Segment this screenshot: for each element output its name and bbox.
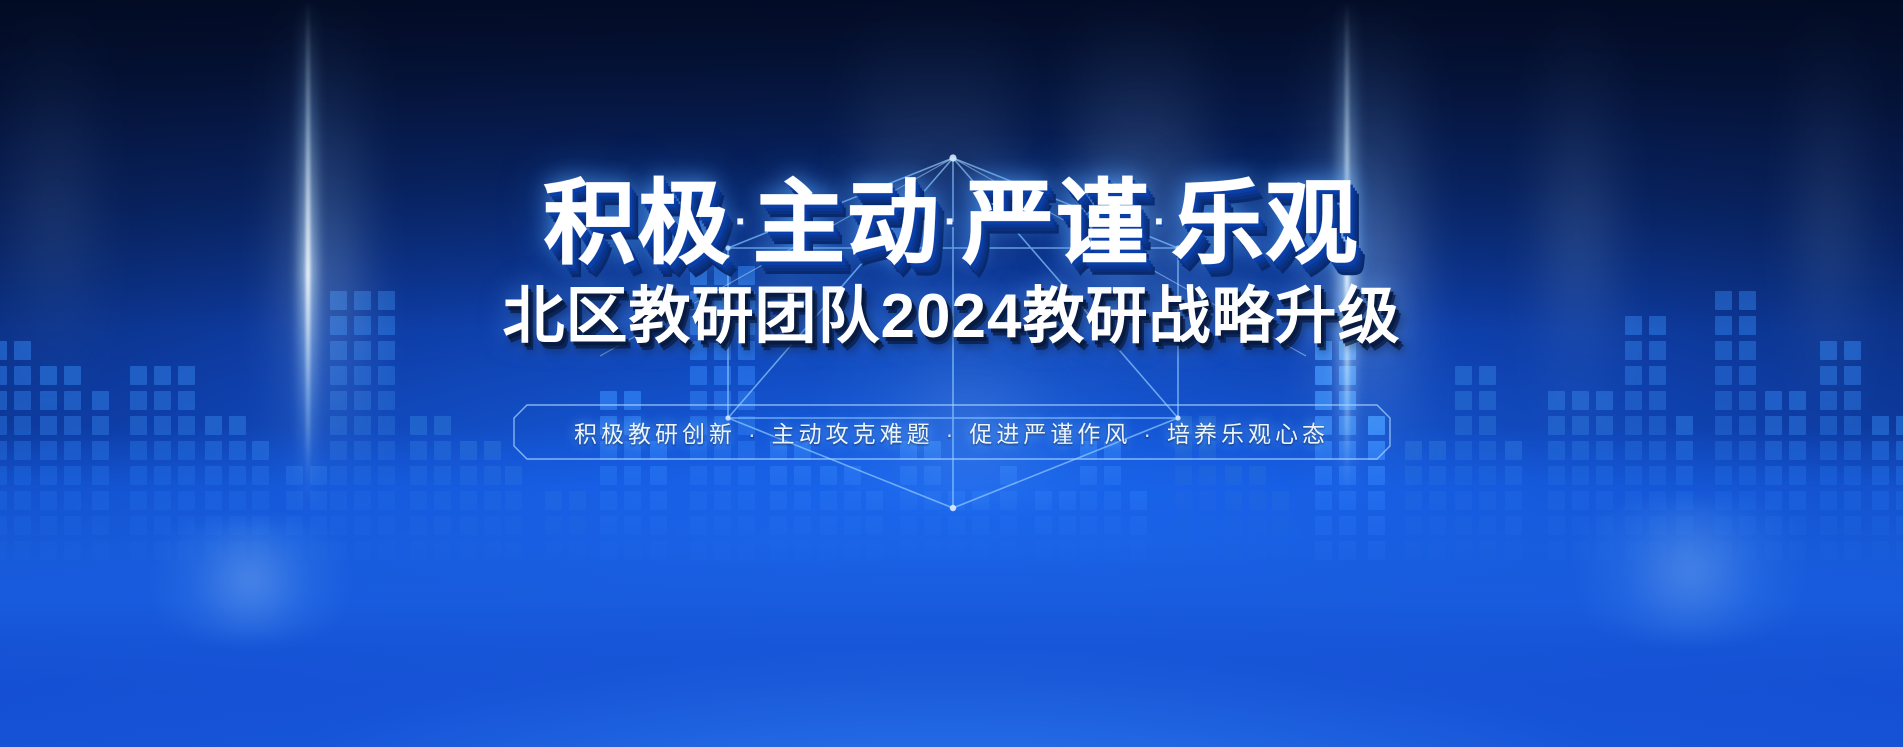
main-title-word-4: 乐观 [1172, 173, 1360, 275]
main-title-separator: · [735, 205, 748, 239]
main-title-word-3: 严谨 [962, 173, 1150, 275]
tagline-item-4: 培养乐观心态 [1167, 421, 1329, 447]
tagline-separator: · [946, 421, 958, 447]
main-title-word-2: 主动 [753, 173, 941, 275]
tagline-separator: · [748, 421, 760, 447]
tagline-item-2: 主动攻克难题 [772, 421, 934, 447]
main-title-separator: · [945, 205, 958, 239]
tagline-item-1: 积极教研创新 [574, 421, 736, 447]
main-title-separator: · [1154, 205, 1167, 239]
tagline-item-3: 促进严谨作风 [969, 421, 1131, 447]
banner-subtitle: 北区教研团队2024教研战略升级 [503, 286, 1401, 348]
tagline-separator: · [1143, 421, 1155, 447]
banner-content: 积极·主动·严谨·乐观 北区教研团队2024教研战略升级 积极教研创新·主动攻克… [0, 0, 1903, 747]
banner-tagline: 积极教研创新·主动攻克难题·促进严谨作风·培养乐观心态 [574, 415, 1329, 449]
banner-main-title: 积极·主动·严谨·乐观 [543, 178, 1359, 270]
main-title-word-1: 积极 [543, 173, 731, 275]
tagline-container: 积极教研创新·主动攻克难题·促进严谨作风·培养乐观心态 [513, 404, 1391, 460]
banner-stage: 积极·主动·严谨·乐观 北区教研团队2024教研战略升级 积极教研创新·主动攻克… [0, 0, 1903, 747]
